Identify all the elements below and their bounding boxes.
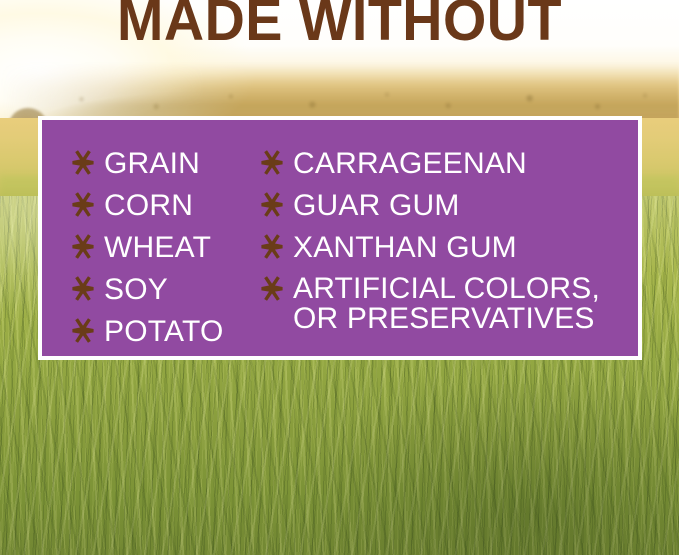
- list-item-label: WHEAT: [104, 232, 211, 263]
- list-item: ARTIFICIAL COLORS, OR PRESERVATIVES: [260, 274, 628, 334]
- x-mark-icon: [71, 233, 95, 260]
- list-item-label: CORN: [104, 190, 193, 221]
- list-item: GRAIN: [71, 148, 260, 179]
- list-item-label: POTATO: [104, 316, 224, 347]
- product-claim-poster: MADE WITHOUT GRAIN: [0, 0, 679, 555]
- claims-columns: GRAIN CORN: [42, 120, 638, 356]
- x-mark-icon: [71, 149, 95, 176]
- list-item-label: GRAIN: [104, 148, 200, 179]
- x-mark-icon: [260, 149, 284, 176]
- page-title: MADE WITHOUT: [14, 0, 666, 54]
- list-item: POTATO: [71, 316, 260, 347]
- claims-column-left: GRAIN CORN: [42, 120, 260, 356]
- list-item-label: XANTHAN GUM: [293, 232, 517, 263]
- x-mark-icon: [71, 275, 95, 302]
- made-without-panel: GRAIN CORN: [38, 116, 642, 360]
- list-item-label: SOY: [104, 274, 168, 305]
- panel-inner-surface: GRAIN CORN: [42, 120, 638, 356]
- list-item: WHEAT: [71, 232, 260, 263]
- list-item: CARRAGEENAN: [260, 148, 628, 179]
- list-item-label: GUAR GUM: [293, 190, 460, 221]
- claims-column-right: CARRAGEENAN GUAR GUM: [260, 120, 638, 356]
- x-mark-icon: [260, 191, 284, 218]
- x-mark-icon: [71, 317, 95, 344]
- list-item-label: ARTIFICIAL COLORS, OR PRESERVATIVES: [293, 274, 600, 334]
- list-item: GUAR GUM: [260, 190, 628, 221]
- x-mark-icon: [71, 191, 95, 218]
- list-item-label: CARRAGEENAN: [293, 148, 527, 179]
- x-mark-icon: [260, 275, 284, 302]
- x-mark-icon: [260, 233, 284, 260]
- list-item: SOY: [71, 274, 260, 305]
- list-item: XANTHAN GUM: [260, 232, 628, 263]
- list-item: CORN: [71, 190, 260, 221]
